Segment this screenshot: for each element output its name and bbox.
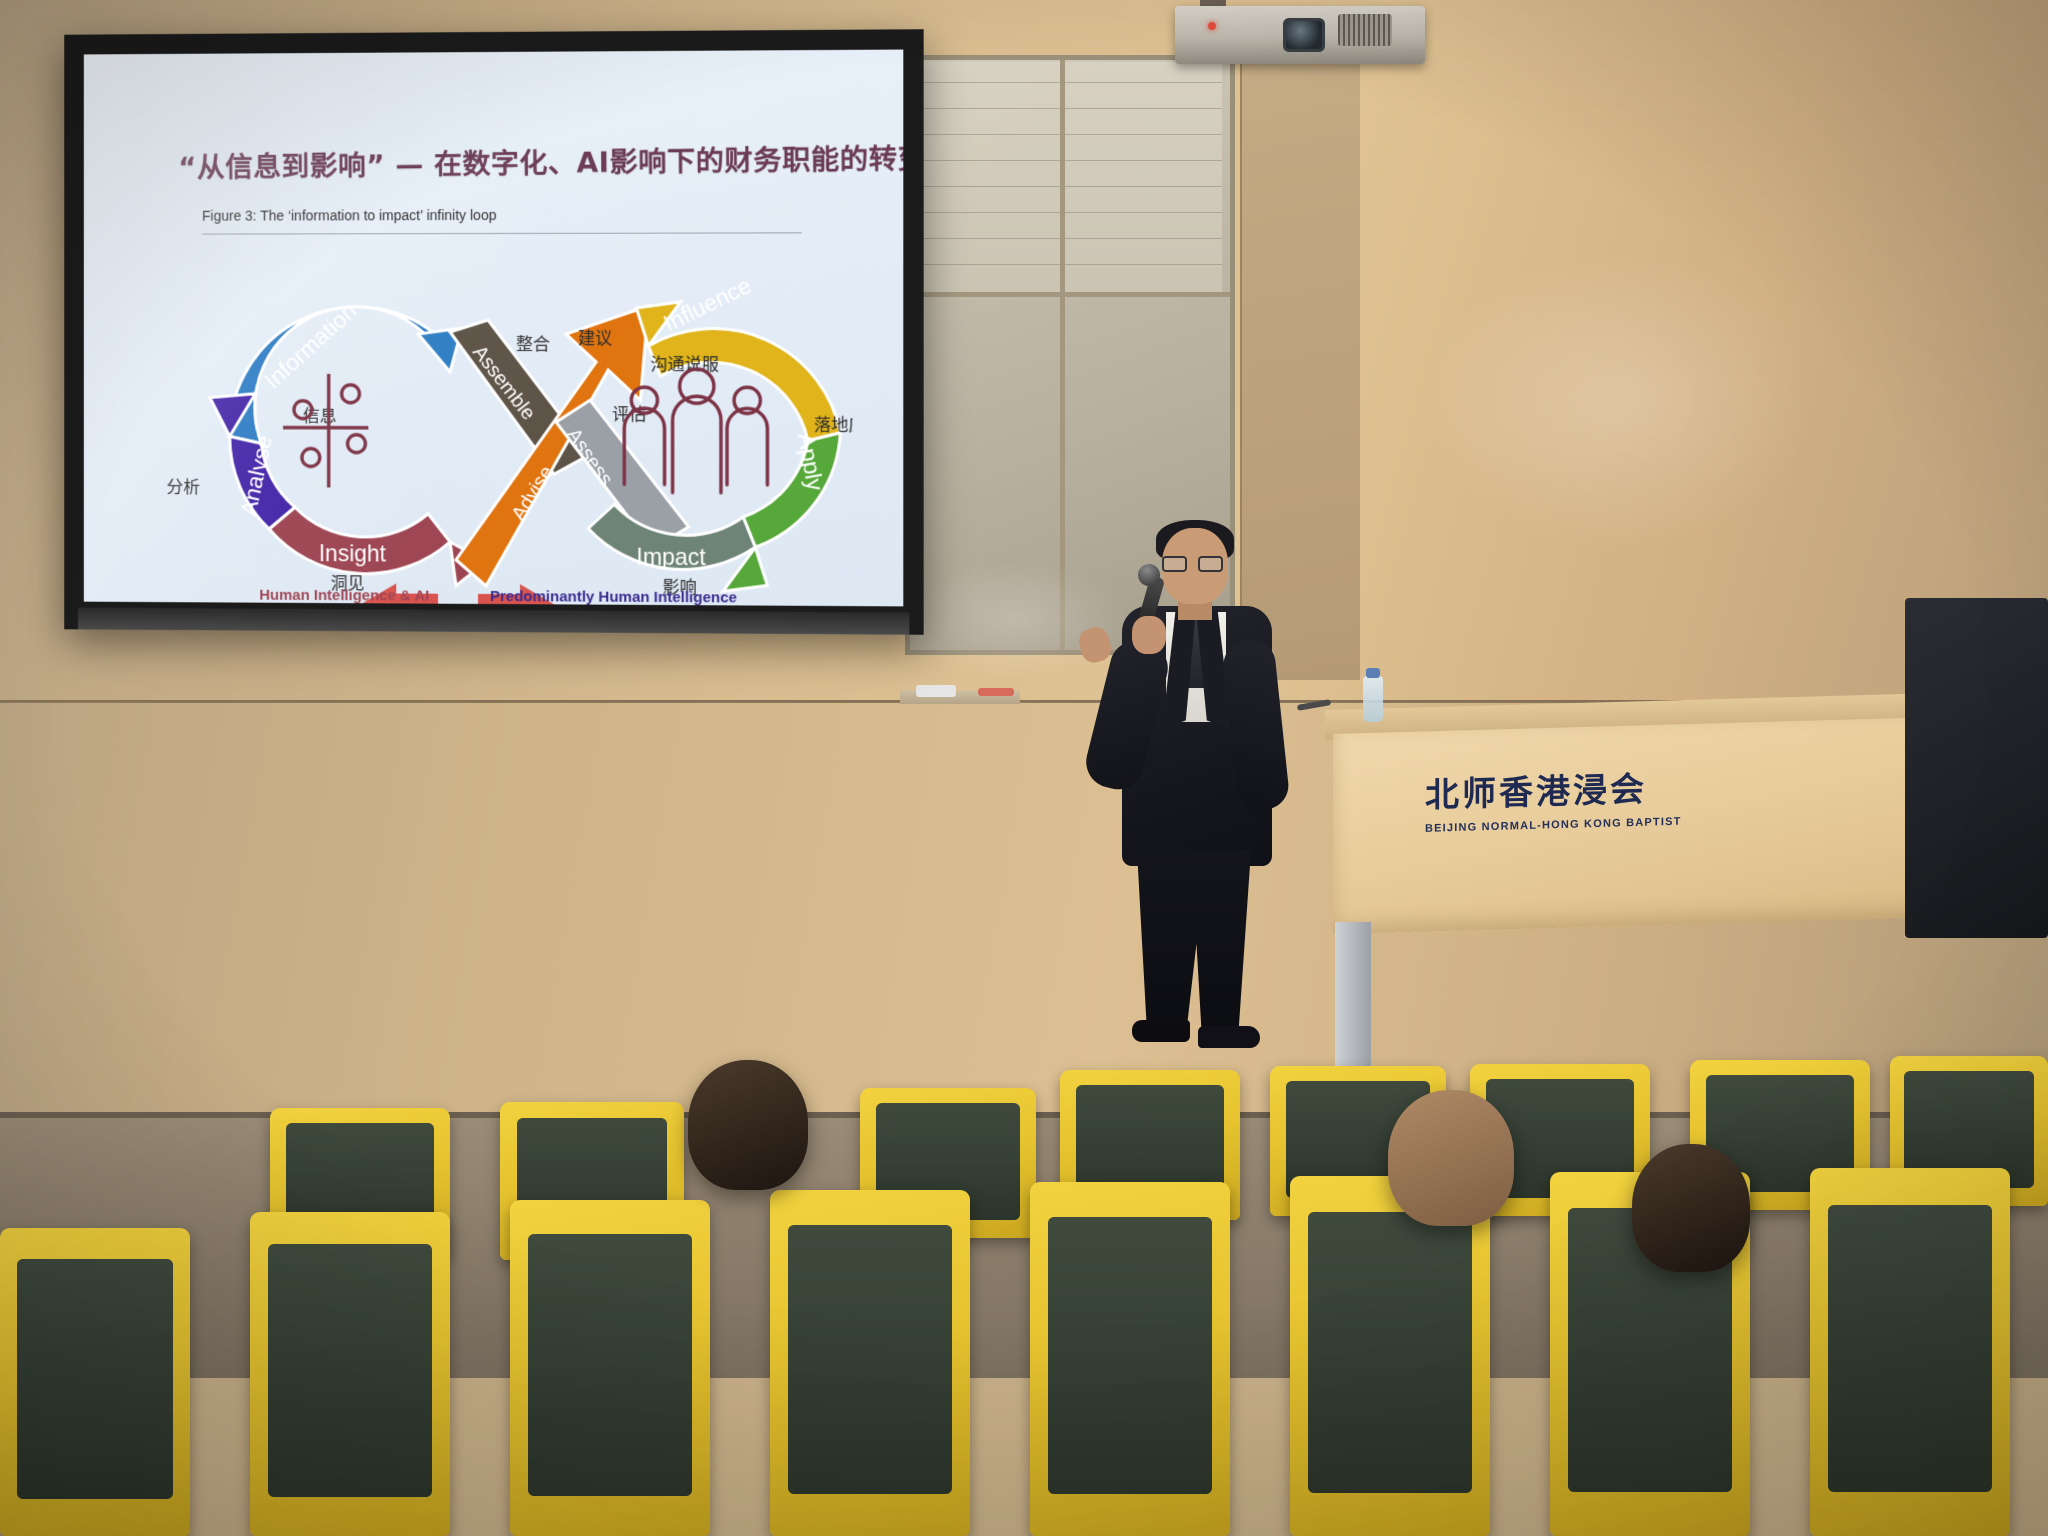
window-blind [918, 62, 1222, 292]
segment-label-advise-zh: 建议 [578, 328, 612, 348]
glasses-lens-left-icon [1162, 556, 1187, 572]
segment-assemble: Assemble 整合 [450, 320, 590, 474]
audience-head [688, 1060, 808, 1190]
presenter-hand-left [1076, 625, 1114, 666]
projector-vent [1338, 14, 1392, 46]
projector-lens-icon [1283, 18, 1325, 52]
slide-content: “从信息到影响” — 在数字化、AI影响下的财务职能的转变 Figure 3: … [84, 50, 903, 607]
seat[interactable] [0, 1228, 190, 1536]
window-mullion [910, 292, 1230, 297]
segment-label-assemble-zh: 整合 [516, 334, 550, 354]
segment-apply: Apply 落地应用 [723, 414, 853, 592]
lecture-hall-scene: “从信息到影响” — 在数字化、AI影响下的财务职能的转变 Figure 3: … [0, 0, 2048, 1536]
water-bottle-cap [1366, 668, 1380, 678]
segment-insight: Insight 洞见 [269, 507, 486, 594]
presenter-hand-right [1132, 616, 1166, 654]
projector-power-led [1208, 22, 1216, 30]
segment-label-apply-zh: 落地应用 [814, 414, 853, 434]
infinity-loop-diagram: .lab { font-family: "Liberation Sans", s… [153, 221, 853, 606]
whiteboard-marker[interactable] [978, 688, 1014, 696]
audience-head [1388, 1090, 1514, 1226]
segment-label-impact: Impact [636, 544, 706, 571]
segment-influence: Influence 沟通说服 [636, 272, 840, 441]
segment-information: Information 信息 [230, 297, 462, 444]
segment-label-influence-zh: 沟通说服 [650, 354, 719, 374]
audience-head [1632, 1144, 1750, 1272]
slide-title: “从信息到影响” — 在数字化、AI影响下的财务职能的转变 [178, 137, 879, 186]
window-mullion [1060, 60, 1065, 650]
seat[interactable] [1030, 1182, 1230, 1536]
audience-seating [0, 1040, 2048, 1536]
side-monitor[interactable] [1905, 598, 2048, 938]
infinity-loop-svg: .lab { font-family: "Liberation Sans", s… [153, 221, 853, 606]
seat[interactable] [1290, 1176, 1490, 1536]
glasses-lens-right-icon [1198, 556, 1223, 572]
segment-label-analyse-zh: 分析 [166, 477, 200, 497]
presenter-legs [1132, 850, 1256, 1030]
footer-left-caption: Human Intelligence & AI [259, 587, 429, 605]
segment-analyse: Analyse 分析 [166, 394, 294, 530]
seat[interactable] [510, 1200, 710, 1536]
screen-surface: “从信息到影响” — 在数字化、AI影响下的财务职能的转变 Figure 3: … [84, 50, 903, 607]
wall-highlight [1420, 250, 1820, 550]
water-bottle[interactable] [1363, 676, 1383, 722]
seat[interactable] [1810, 1168, 2010, 1536]
projection-screen: “从信息到影响” — 在数字化、AI影响下的财务职能的转变 Figure 3: … [64, 29, 923, 635]
seat[interactable] [250, 1212, 450, 1536]
data-points-icon [283, 374, 368, 488]
footer-right-caption: Predominantly Human Intelligence [490, 588, 737, 606]
presenter-shoe-left [1132, 1020, 1190, 1042]
presenter [1070, 520, 1300, 1060]
seat[interactable] [770, 1190, 970, 1536]
whiteboard-eraser[interactable] [916, 685, 956, 697]
segment-label-insight: Insight [319, 540, 387, 566]
